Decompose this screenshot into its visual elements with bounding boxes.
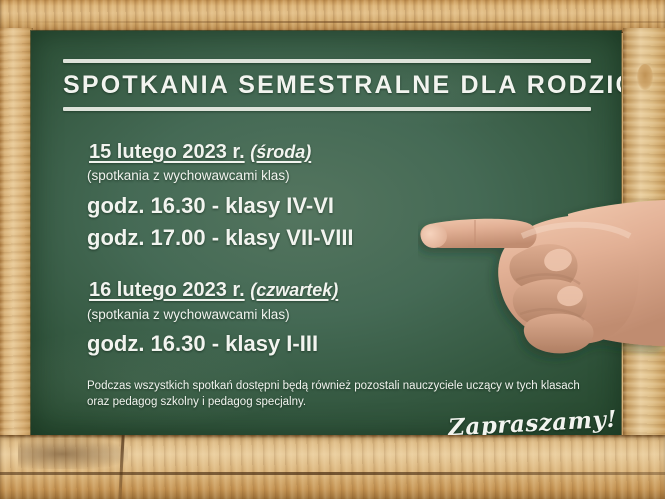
meeting-slot-2-1: godz. 16.30 - klasy I-III <box>87 331 318 357</box>
title-rule-top <box>63 59 591 63</box>
frame-bottom-ledge <box>0 435 665 499</box>
pointing-hand <box>418 196 665 381</box>
footnote-line-2: oraz pedagog szkolny i pedagog specjalny… <box>87 394 617 410</box>
title-rule-bottom <box>63 107 591 111</box>
frame-left-stile <box>0 28 33 448</box>
wood-knot <box>637 64 653 90</box>
frame-top-rail <box>0 0 665 33</box>
page-title: SPOTKANIA SEMESTRALNE DLA RODZICÓW <box>63 71 591 100</box>
meeting-date-2-date: 16 lutego 2023 r. <box>89 279 245 301</box>
meeting-date-1: 15 lutego 2023 r. (środa) <box>89 141 311 164</box>
meeting-date-1-date: 15 lutego 2023 r. <box>89 141 245 163</box>
meeting-subtitle-1: (spotkania z wychowawcami klas) <box>87 168 290 183</box>
meeting-date-1-weekday: (środa) <box>250 142 311 162</box>
wood-seam-horizontal <box>0 472 665 475</box>
title-block: SPOTKANIA SEMESTRALNE DLA RODZICÓW <box>63 59 591 111</box>
footnote: Podczas wszystkich spotkań dostępni będą… <box>87 378 617 410</box>
meeting-subtitle-2: (spotkania z wychowawcami klas) <box>87 307 290 322</box>
wood-grain-blob <box>18 439 128 469</box>
meeting-date-2: 16 lutego 2023 r. (czwartek) <box>89 279 338 302</box>
meeting-slot-1-1: godz. 16.30 - klasy IV-VI <box>87 193 334 219</box>
signature-zapraszamy: Zapraszamy! <box>447 406 617 436</box>
poster-image: SPOTKANIA SEMESTRALNE DLA RODZICÓW 15 lu… <box>0 0 665 499</box>
meeting-date-2-weekday: (czwartek) <box>250 280 338 300</box>
meeting-slot-1-2: godz. 17.00 - klasy VII-VIII <box>87 225 354 251</box>
